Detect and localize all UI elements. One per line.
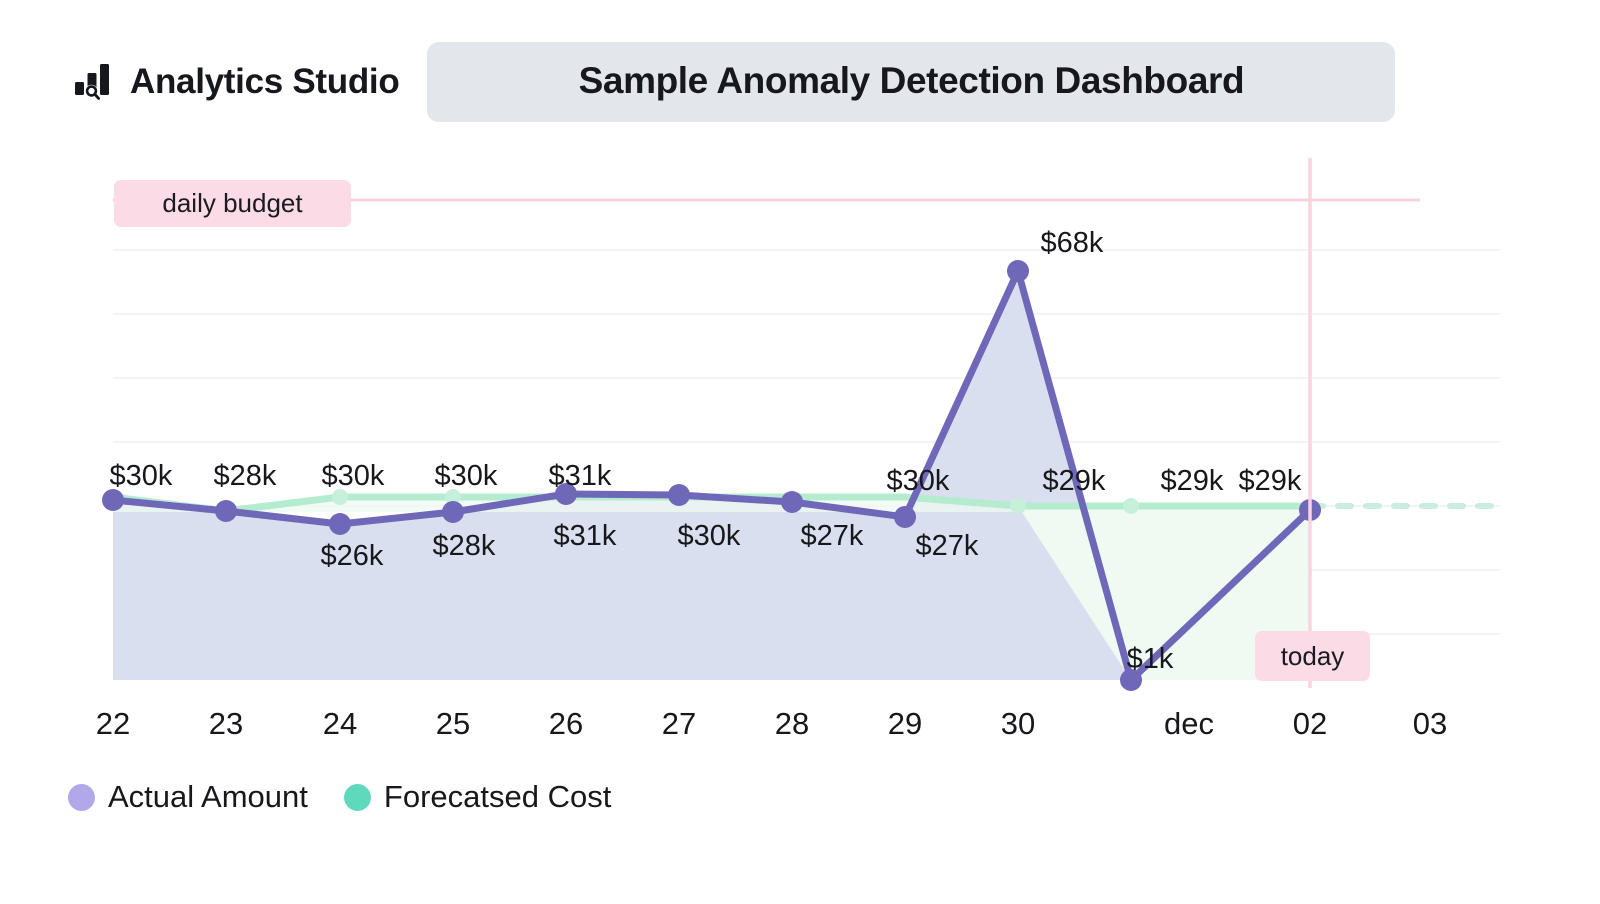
x-tick-2: 24 (323, 706, 357, 741)
header: Analytics Studio Sample Anomaly Detectio… (74, 38, 1395, 126)
actual-label-2: $26k (321, 540, 384, 572)
actual-label-8: $68k (1041, 227, 1104, 259)
dashboard-title-badge: Sample Anomaly Detection Dashboard (427, 42, 1395, 122)
x-tick-11: 03 (1413, 706, 1447, 741)
x-tick-6: 28 (775, 706, 809, 741)
forecast-label-7: $30k (887, 465, 950, 497)
today-badge: today (1255, 631, 1370, 681)
x-tick-1: 23 (209, 706, 243, 741)
dashboard-root: Analytics Studio Sample Anomaly Detectio… (0, 0, 1600, 904)
forecast-label-8: $29k (1043, 465, 1106, 497)
actual-label-7: $27k (801, 520, 864, 552)
x-tick-8: 30 (1001, 706, 1035, 741)
forecast-label-1: $28k (214, 460, 277, 492)
actual-label-3: $28k (433, 530, 496, 562)
legend-label-actual-amount: Actual Amount (108, 779, 308, 815)
legend-item-forecasted-cost[interactable]: Forecatsed Cost (344, 779, 611, 815)
actual-label-5: $31k (554, 520, 617, 552)
actual-label-4: $31k (549, 460, 612, 492)
brand-name: Analytics Studio (130, 62, 399, 102)
forecast-label-3: $30k (435, 460, 498, 492)
actual-label-9: $27k (916, 530, 979, 562)
forecast-label-2: $30k (322, 460, 385, 492)
actual-label-10: $1k (1127, 643, 1174, 675)
daily-budget-badge: daily budget (114, 180, 351, 227)
x-tick-5: 27 (662, 706, 696, 741)
x-tick-4: 26 (549, 706, 583, 741)
x-tick-9: dec (1164, 706, 1214, 741)
x-tick-3: 25 (436, 706, 470, 741)
forecast-label-10: $29k (1239, 465, 1302, 497)
legend-dot-icon (344, 784, 371, 811)
legend-item-actual-amount[interactable]: Actual Amount (68, 779, 308, 815)
chart-legend: Actual Amount Forecatsed Cost (68, 779, 611, 815)
forecast-label-0: $30k (110, 460, 173, 492)
bar-chart-search-icon (74, 62, 116, 102)
brand: Analytics Studio (74, 62, 399, 102)
x-tick-10: 02 (1293, 706, 1327, 741)
actual-label-6: $30k (678, 520, 741, 552)
legend-label-forecasted-cost: Forecatsed Cost (384, 779, 611, 815)
x-tick-0: 22 (96, 706, 130, 741)
x-tick-7: 29 (888, 706, 922, 741)
forecast-label-9: $29k (1161, 465, 1224, 497)
page-title: Sample Anomaly Detection Dashboard (579, 60, 1245, 102)
legend-dot-icon (68, 784, 95, 811)
